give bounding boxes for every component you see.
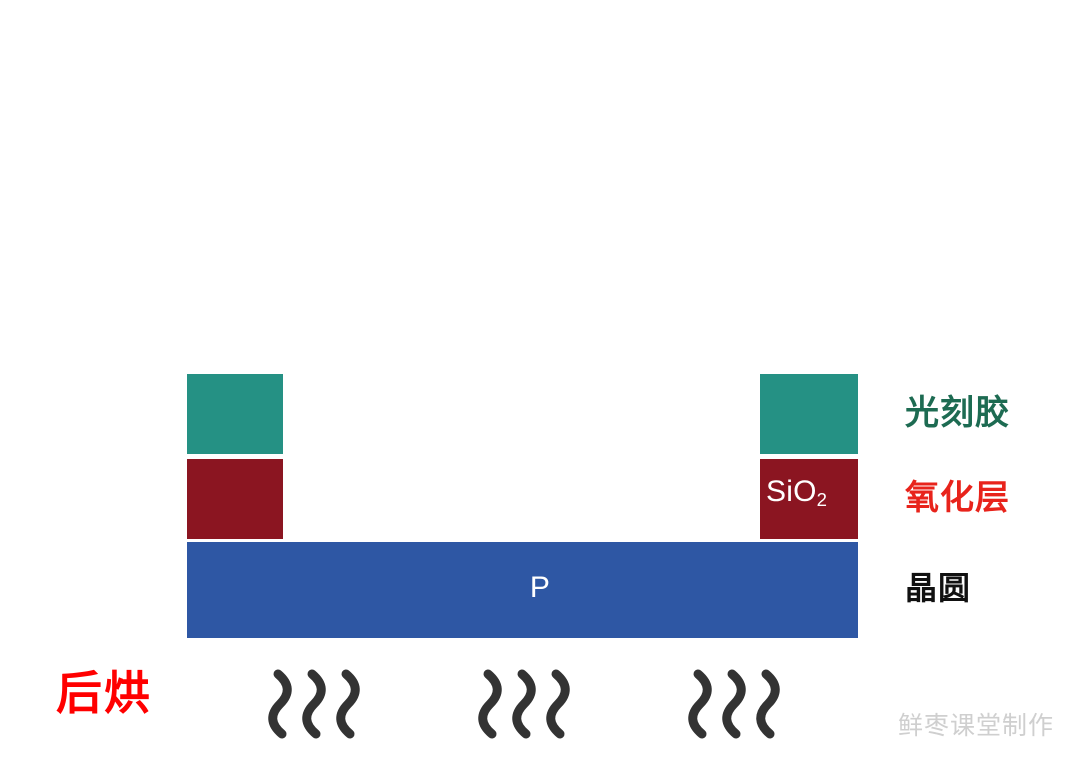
watermark-text: 鲜枣课堂制作 xyxy=(898,706,1054,742)
photoresist-block-right xyxy=(760,374,858,454)
heat-wave-icon xyxy=(264,662,374,744)
oxide-block-left xyxy=(187,459,283,539)
sio2-text: SiO xyxy=(766,475,817,508)
process-step-label: 后烘 xyxy=(56,670,152,716)
heat-wave-icon xyxy=(684,662,794,744)
photoresist-block-left xyxy=(187,374,283,454)
legend-wafer: 晶圆 xyxy=(905,572,971,604)
heat-wave-icon xyxy=(474,662,584,744)
sio2-inline-label: SiO2 xyxy=(766,477,827,507)
legend-oxide-layer: 氧化层 xyxy=(905,481,1010,515)
sio2-subscript: 2 xyxy=(817,489,828,510)
legend-photoresist: 光刻胶 xyxy=(905,396,1010,430)
diagram-canvas: SiO2 P 光刻胶 氧化层 晶圆 后烘 xyxy=(0,0,1080,767)
